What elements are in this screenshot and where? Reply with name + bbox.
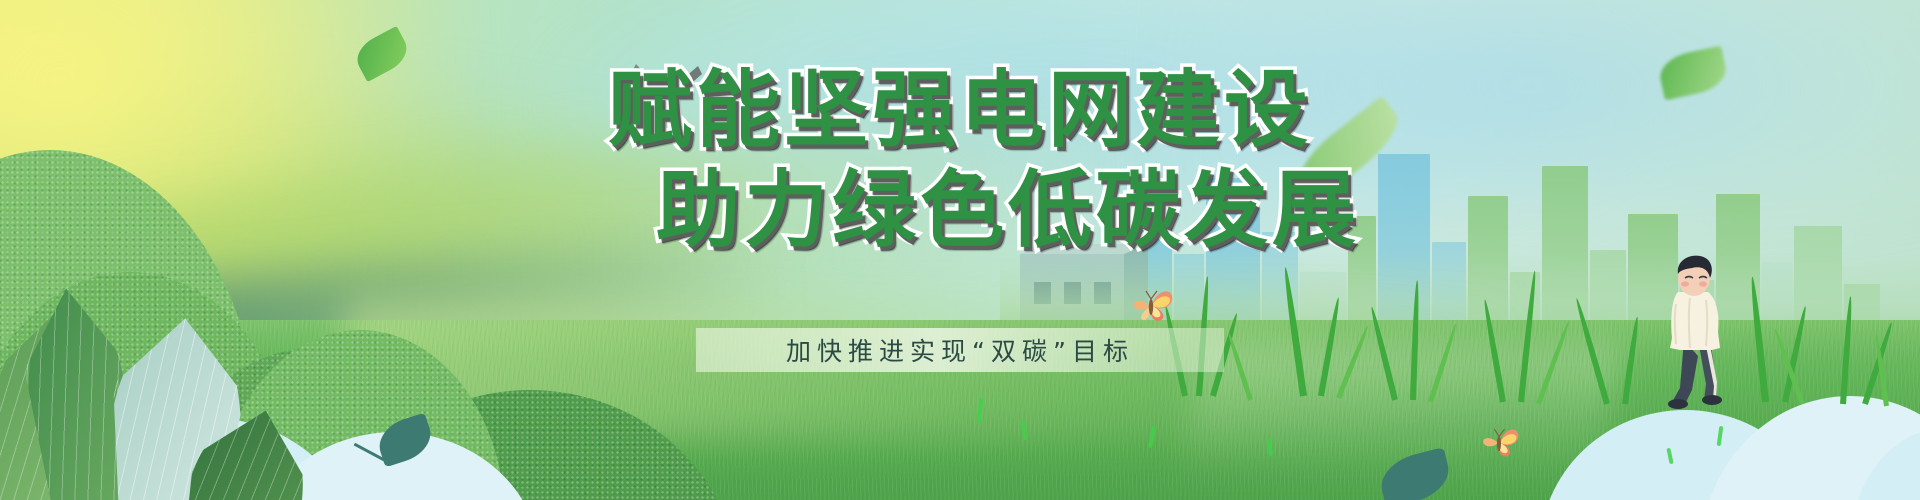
butterfly-icon [1128, 286, 1174, 324]
subtitle-panel: 加快推进实现“双碳”目标 [696, 328, 1224, 372]
subtitle-text: 加快推进实现“双碳”目标 [786, 332, 1134, 368]
swallow-bird-icon [628, 62, 704, 110]
butterfly-icon [1478, 424, 1520, 460]
eco-power-grid-banner: 赋能坚强电网建设 助力绿色低碳发展 加快推进实现“双碳”目标 [0, 0, 1920, 500]
walking-person-illustration [1654, 252, 1738, 412]
